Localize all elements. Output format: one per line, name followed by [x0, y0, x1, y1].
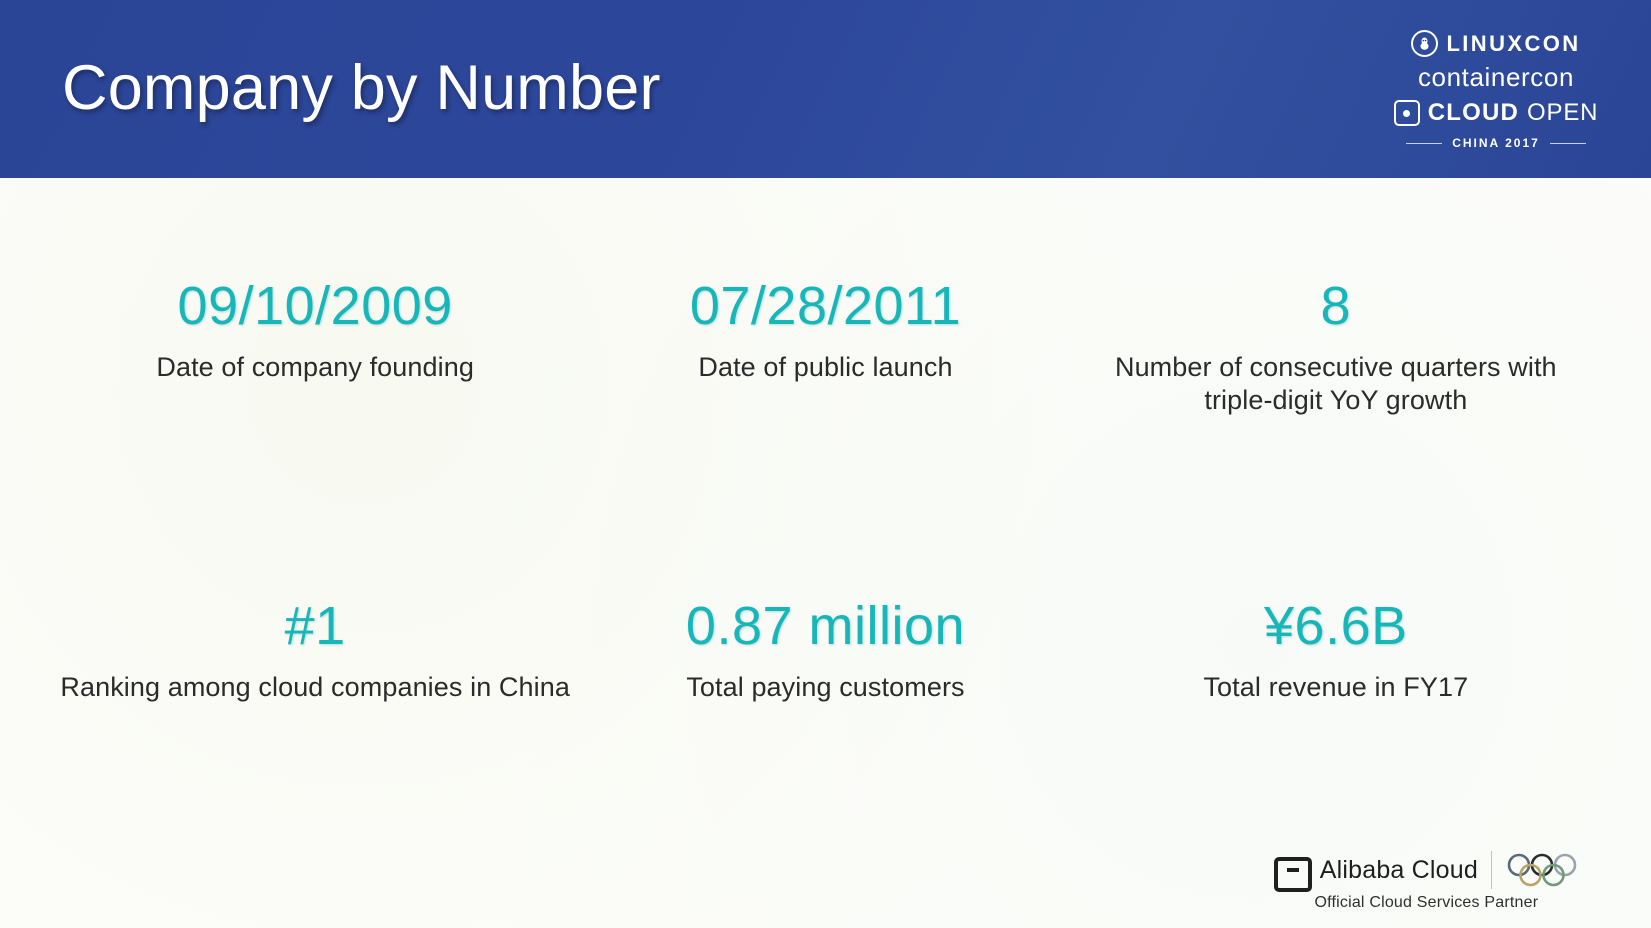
stats-grid: 09/10/2009 Date of company founding 07/2… [60, 268, 1591, 818]
event-logo-cloudopen-row: CLOUDOPEN [1394, 99, 1599, 127]
bracket-right [1293, 857, 1312, 892]
event-logo: LINUXCON containercon CLOUDOPEN CHINA 20… [1361, 30, 1631, 150]
footer-brand-name: Alibaba Cloud [1320, 856, 1478, 885]
bracket-bar [1287, 868, 1299, 872]
tux-penguin-icon [1411, 30, 1438, 57]
stat-label: Total revenue in FY17 [1203, 671, 1468, 704]
bracket-left [1274, 857, 1293, 892]
stat-founding-date: 09/10/2009 Date of company founding [60, 268, 570, 498]
event-logo-linuxcon-text: LINUXCON [1446, 31, 1580, 57]
slide-body: 09/10/2009 Date of company founding 07/2… [0, 178, 1651, 928]
stat-value: 8 [1321, 278, 1352, 335]
stat-value: #1 [285, 598, 346, 655]
edition-rule-right [1550, 143, 1586, 144]
edition-text: CHINA 2017 [1452, 136, 1540, 150]
stat-label: Date of public launch [698, 351, 952, 384]
event-logo-open-text: OPEN [1527, 99, 1598, 127]
alibaba-cloud-bracket-icon [1274, 857, 1312, 884]
stat-label: Number of consecutive quarters with trip… [1081, 351, 1591, 417]
stat-total-revenue: ¥6.6B Total revenue in FY17 [1081, 588, 1591, 818]
event-logo-cloud-text: CLOUD [1428, 99, 1519, 127]
cloudopen-hex-dot [1403, 110, 1410, 117]
event-logo-linuxcon-row: LINUXCON [1411, 30, 1580, 57]
slide-header: Company by Number LINUXCON containercon … [0, 0, 1651, 178]
stat-value: 07/28/2011 [690, 278, 961, 335]
olympic-rings-icon [1505, 853, 1579, 887]
stat-value: ¥6.6B [1264, 598, 1408, 655]
stat-label: Total paying customers [686, 671, 964, 704]
event-logo-containercon-text: containercon [1418, 62, 1574, 93]
stat-china-ranking: #1 Ranking among cloud companies in Chin… [60, 588, 570, 818]
stat-public-launch-date: 07/28/2011 Date of public launch [570, 268, 1080, 498]
stat-value: 09/10/2009 [178, 278, 453, 335]
stat-paying-customers: 0.87 million Total paying customers [570, 588, 1080, 818]
footer-tagline: Official Cloud Services Partner [1314, 894, 1538, 912]
cloudopen-hex-icon [1394, 100, 1420, 126]
stat-consecutive-quarters: 8 Number of consecutive quarters with tr… [1081, 268, 1591, 498]
footer-logo-row: Alibaba Cloud [1274, 851, 1579, 889]
footer-branding: Alibaba Cloud Official Cloud Services Pa… [1274, 851, 1579, 912]
edition-rule-left [1406, 143, 1442, 144]
stat-label: Ranking among cloud companies in China [60, 671, 570, 704]
stat-label: Date of company founding [156, 351, 474, 384]
footer-divider [1491, 851, 1492, 889]
stat-value: 0.87 million [686, 598, 965, 655]
page-title: Company by Number [62, 52, 661, 124]
event-logo-edition: CHINA 2017 [1406, 136, 1586, 150]
